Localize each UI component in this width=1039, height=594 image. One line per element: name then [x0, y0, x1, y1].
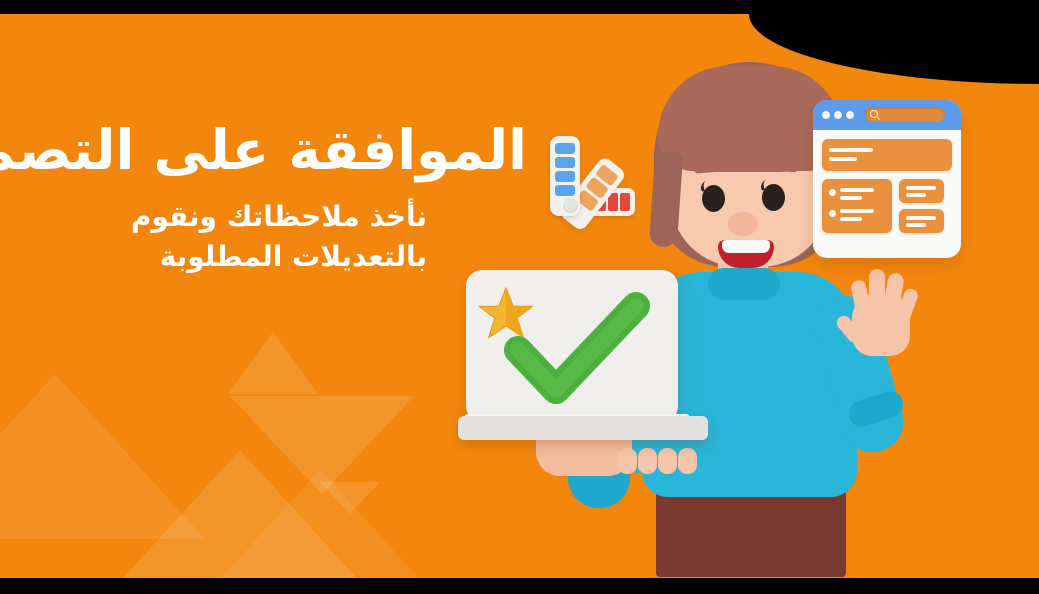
window-dot: [822, 111, 830, 119]
laptop-illustration: [458, 270, 726, 456]
browser-titlebar: [813, 100, 961, 130]
page-subtitle: نأخذ ملاحظاتك ونقوم بالتعديلات المطلوبة: [0, 197, 527, 277]
browser-content: [813, 130, 961, 242]
subtitle-line-2: بالتعديلات المطلوبة: [160, 240, 427, 273]
green-checkmark-icon: [502, 292, 652, 404]
banner-root: الموافقة على التصميم نأخذ ملاحظاتك ونقوم…: [0, 0, 1039, 594]
page-title: الموافقة على التصميم: [0, 118, 527, 183]
search-input: [865, 107, 945, 122]
swatch-card-blue: [550, 136, 580, 216]
decorative-triangle: [228, 332, 318, 394]
window-dot: [846, 111, 854, 119]
subtitle-line-1: نأخذ ملاحظاتك ونقوم: [131, 200, 427, 233]
laptop-screen: [466, 270, 678, 422]
content-card-block: [899, 179, 944, 203]
content-list-block: [822, 179, 892, 233]
orange-canvas: الموافقة على التصميم نأخذ ملاحظاتك ونقوم…: [0, 14, 1039, 578]
browser-window-icon: [813, 100, 961, 258]
nose: [728, 212, 758, 236]
window-dot: [834, 111, 842, 119]
search-icon: [870, 110, 878, 118]
content-card-block: [899, 209, 944, 233]
waving-hand-icon: [844, 264, 918, 360]
text-block: الموافقة على التصميم نأخذ ملاحظاتك ونقوم…: [0, 118, 545, 276]
lower-body: [656, 487, 846, 577]
laptop-base: [458, 416, 708, 440]
decorative-triangle: [320, 482, 380, 514]
content-hero-block: [822, 139, 952, 171]
decorative-triangle: [105, 450, 375, 578]
